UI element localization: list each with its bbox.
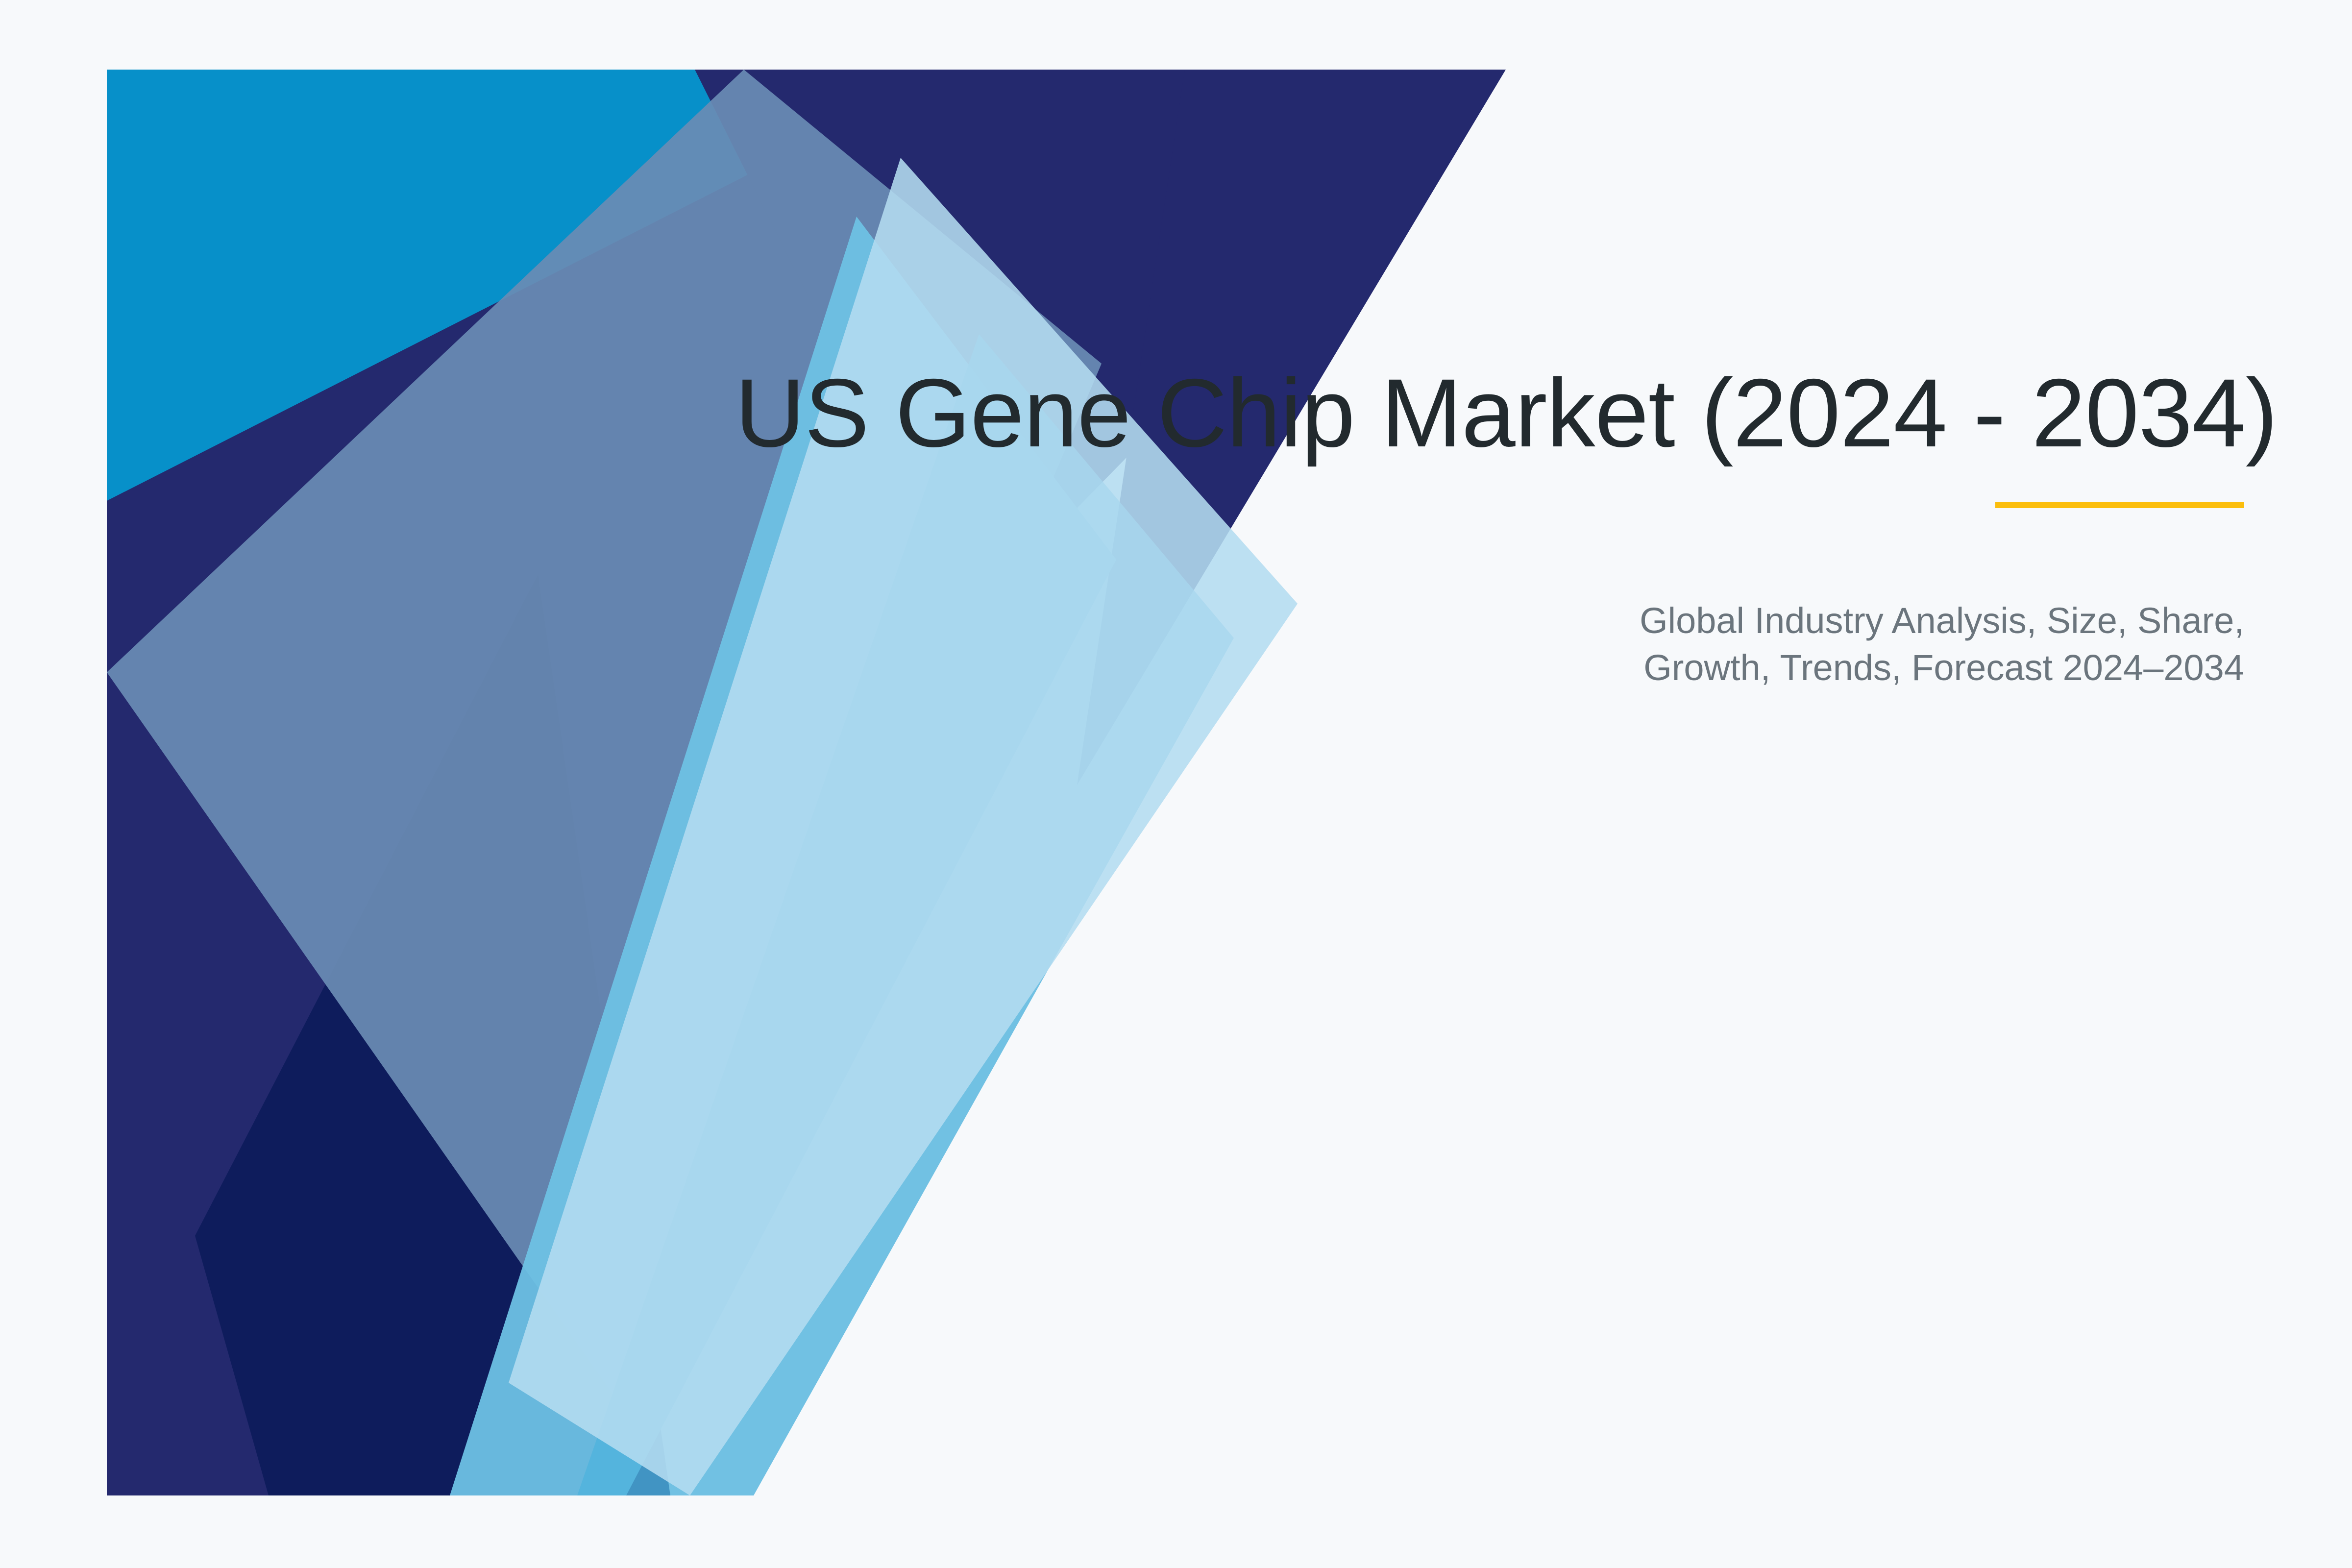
page-subtitle: Global Industry Analysis, Size, Share, G… [1627,597,2244,691]
report-cover-page: US Gene Chip Market (2024 - 2034) Global… [0,0,2352,1568]
abstract-geometric-artwork [107,70,1508,1495]
artwork-svg [107,70,1508,1495]
title-accent-rule [1995,502,2244,508]
cover-text-block: US Gene Chip Market (2024 - 2034) Global… [735,363,2244,691]
page-title: US Gene Chip Market (2024 - 2034) [735,363,2244,464]
